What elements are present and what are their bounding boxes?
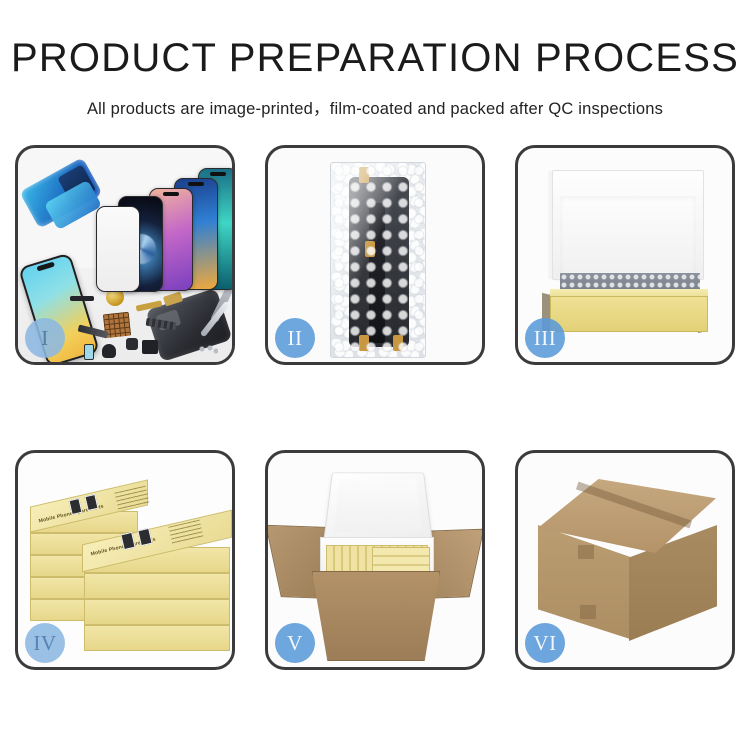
step-badge-6: VI [525,623,565,663]
screws-icon [198,344,218,354]
product-preparation-infographic: PRODUCT PREPARATION PROCESS All products… [0,0,750,750]
step-badge-3: III [525,318,565,358]
process-step-2: II [265,145,485,365]
yellow-box-front-icon [550,296,708,332]
yellow-box-icon [84,599,230,625]
foam-sheet-icon [560,196,696,278]
step-badge-2: II [275,318,315,358]
step-badge-5: V [275,623,315,663]
step-badge-4: IV [25,623,65,663]
carton-tape-icon [580,605,596,619]
yellow-box-icon [84,625,230,651]
bubble-wrap-bag-icon [330,162,426,358]
process-step-1: I [15,145,235,365]
brown-carton-icon [312,571,440,661]
yellow-box-icon [84,573,230,599]
notch-icon [210,172,226,176]
page-subtitle: All products are image-printed，film-coat… [0,95,750,119]
spare-part-icon [70,296,94,301]
phone-white-screen-icon [96,206,140,292]
spare-part-icon [126,338,138,350]
process-step-grid: I II [15,145,735,672]
process-step-6: VI [515,450,735,670]
notch-icon [163,192,179,196]
page-title: PRODUCT PREPARATION PROCESS [0,36,750,81]
step-badge-1: I [25,318,65,358]
process-step-4: Mobile Phone Spare Parts Mobile Phone Sp… [15,450,235,670]
process-step-3: III [515,145,735,365]
camera-module-icon [142,340,158,354]
plastic-sheen [331,163,425,357]
battery-icon [84,344,94,360]
notch-icon [188,182,204,186]
foam-lid-icon [323,472,432,541]
process-step-5: V [265,450,485,670]
carton-tape-icon [578,545,594,559]
speaker-icon [102,344,116,358]
header: PRODUCT PREPARATION PROCESS All products… [0,36,750,119]
